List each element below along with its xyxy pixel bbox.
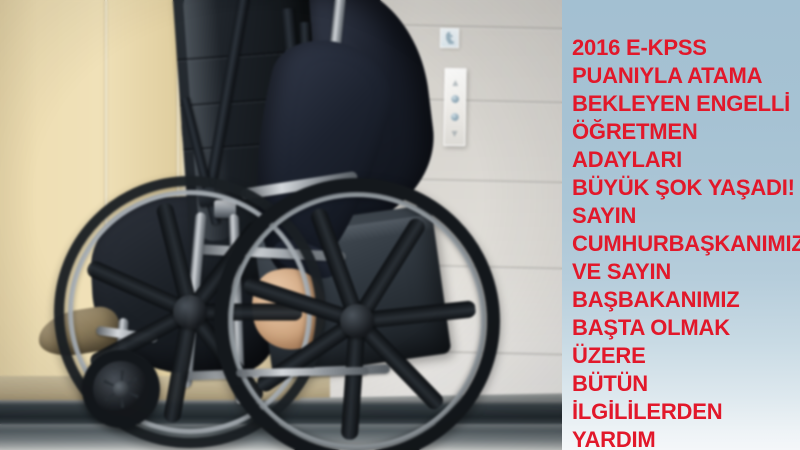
elevator-call-button-panel <box>443 68 466 146</box>
elevator-down-button-icon <box>451 113 459 121</box>
elevator-up-button-icon <box>451 95 459 103</box>
wheelchair-accessibility-sign-icon <box>440 28 459 48</box>
caster-hub <box>113 381 129 397</box>
arrow-up-icon <box>452 80 458 86</box>
wheelchair-pictogram-glyph <box>445 32 454 44</box>
wheelchair-far-rear-wheel <box>214 178 500 450</box>
banner-canvas: 2016 E-KPSS PUANIYLA ATAMA BEKLEYEN ENGE… <box>0 0 800 450</box>
arrow-down-icon <box>451 131 457 137</box>
wheelchair-elevator-photo <box>0 0 562 450</box>
headline-panel: 2016 E-KPSS PUANIYLA ATAMA BEKLEYEN ENGE… <box>562 0 800 450</box>
wheelchair-front-caster-wheel <box>82 350 160 428</box>
headline-text: 2016 E-KPSS PUANIYLA ATAMA BEKLEYEN ENGE… <box>572 34 800 450</box>
wheel-tire <box>214 178 500 450</box>
